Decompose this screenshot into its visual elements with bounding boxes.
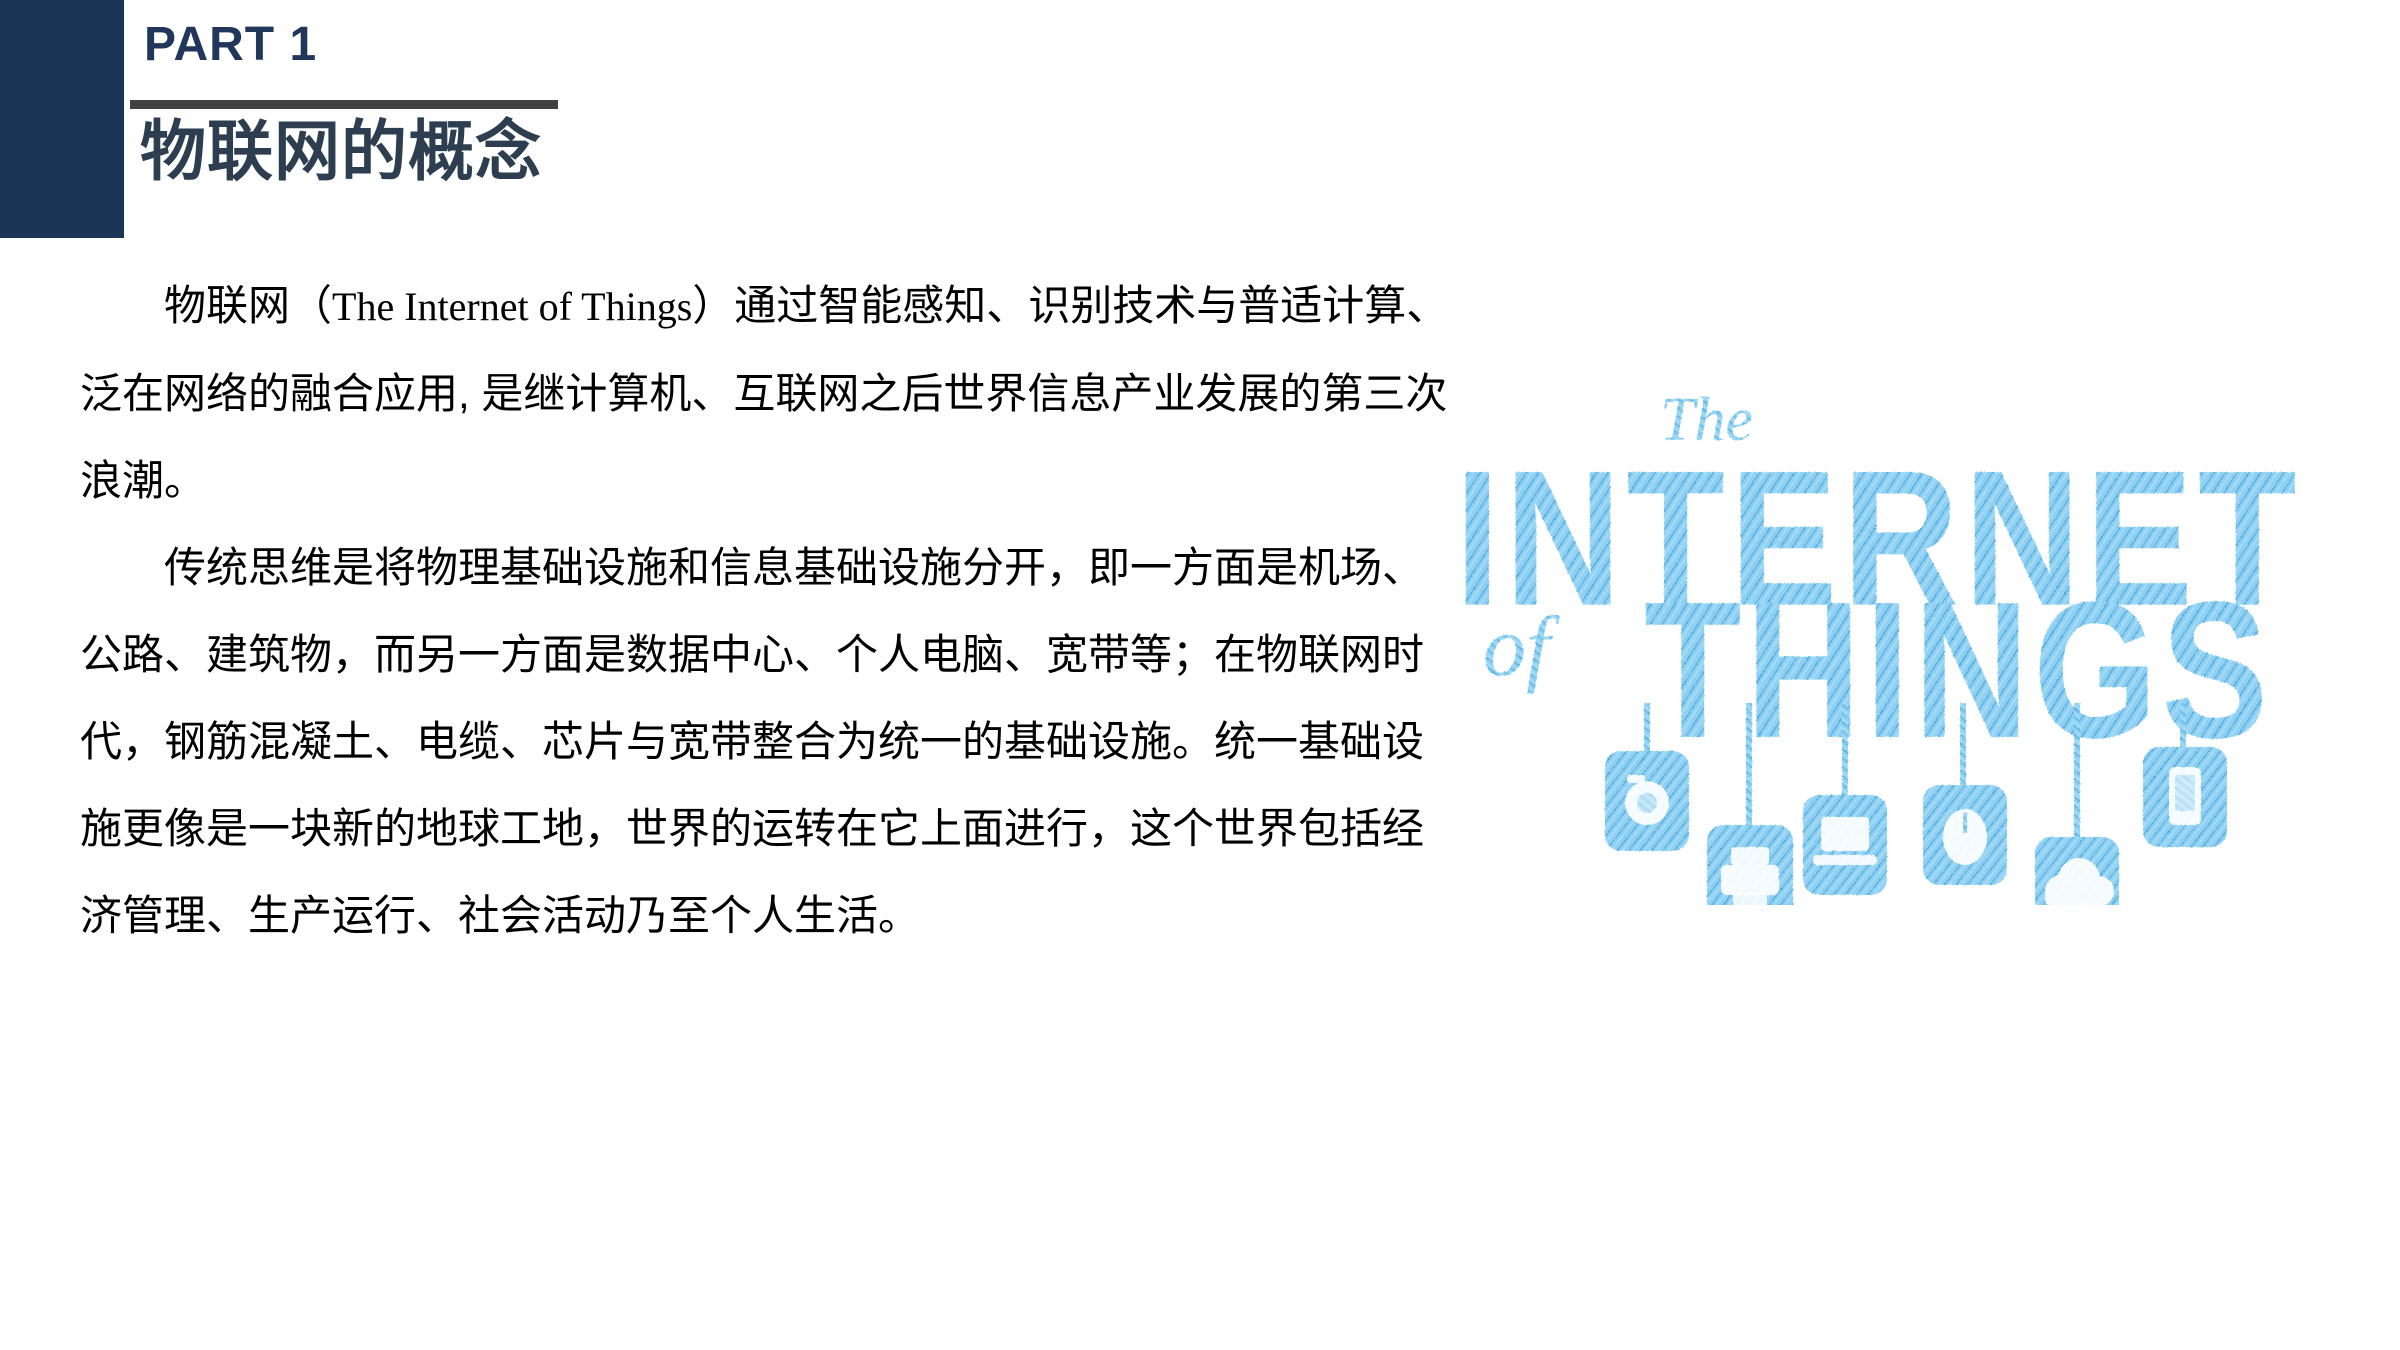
paragraph-1-english-term: The Internet of Things [332, 284, 692, 329]
paragraph-2: 传统思维是将物理基础设施和信息基础设施分开，即一方面是机场、公路、建筑物，而另一… [80, 524, 1455, 959]
paragraph-1-lead: 物联网（ [164, 282, 332, 329]
cloud-icon [2035, 837, 2119, 905]
internet-of-things-logo: The INTERNET of THINGS [1455, 385, 2355, 905]
title-divider-rule [130, 100, 558, 109]
smartphone-icon [2143, 747, 2227, 847]
camera-icon [1605, 751, 1689, 851]
graphic-word-of: of [1483, 598, 1560, 694]
accent-block-left [0, 0, 124, 238]
body-content: 物联网（The Internet of Things）通过智能感知、识别技术与普… [80, 262, 1455, 959]
graphic-word-things: THINGS [1644, 561, 2272, 779]
part-label: PART 1 [144, 20, 317, 70]
laptop-icon [1803, 795, 1887, 895]
paragraph-1: 物联网（The Internet of Things）通过智能感知、识别技术与普… [80, 262, 1455, 524]
page-title: 物联网的概念 [140, 114, 542, 190]
printer-icon [1707, 825, 1793, 905]
mouse-icon [1923, 785, 2007, 885]
slide-canvas: PART 1 物联网的概念 物联网（The Internet of Things… [0, 0, 2400, 1350]
